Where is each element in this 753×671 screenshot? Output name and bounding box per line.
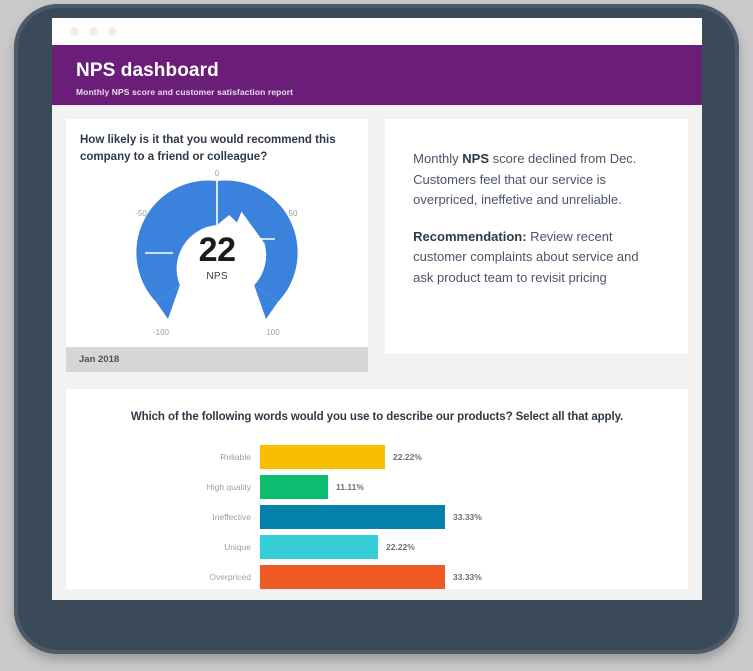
gauge-tick-label-neg100: -100 <box>153 328 170 337</box>
insight-paragraph-recommendation: Recommendation: Review recent customer c… <box>413 227 662 289</box>
gauge-arc-right-with-value-notch <box>217 181 298 303</box>
recommendation-label: Recommendation: <box>413 229 526 244</box>
browser-chrome <box>52 18 702 47</box>
bar-fill[interactable] <box>260 505 445 529</box>
bar-row: Overpriced33.33% <box>86 563 668 589</box>
app-header: NPS dashboard Monthly NPS score and cust… <box>52 47 702 105</box>
bar-value-label: 33.33% <box>453 572 482 582</box>
bar-fill[interactable] <box>260 445 385 469</box>
word-association-card: Which of the following words would you u… <box>66 389 688 589</box>
bar-row: Reliable22.22% <box>86 443 668 471</box>
bar-value-label: 22.22% <box>386 542 415 552</box>
page-title: NPS dashboard <box>76 61 678 82</box>
bar-track: 22.22% <box>260 445 668 469</box>
nps-gauge-card: How likely is it that you would recommen… <box>66 119 368 372</box>
bar-category-label: High quality <box>86 482 260 492</box>
gauge-tick-label-pos100: 100 <box>266 328 280 337</box>
bar-category-label: Unique <box>86 542 260 552</box>
device-frame: NPS dashboard Monthly NPS score and cust… <box>14 4 739 654</box>
bar-track: 33.33% <box>260 505 668 529</box>
gauge-question-text: How likely is it that you would recommen… <box>66 119 368 165</box>
bar-fill[interactable] <box>260 535 378 559</box>
bar-row: Unique22.22% <box>86 533 668 561</box>
bar-track: 33.33% <box>260 565 668 589</box>
window-minimize-dot-icon[interactable] <box>89 27 98 36</box>
window-close-dot-icon[interactable] <box>70 27 79 36</box>
bar-track: 22.22% <box>260 535 668 559</box>
bar-chart-title: Which of the following words would you u… <box>86 411 668 423</box>
bar-value-label: 22.22% <box>393 452 422 462</box>
bar-row: Ineffective33.33% <box>86 503 668 531</box>
dashboard-body: How likely is it that you would recommen… <box>52 105 702 589</box>
bar-row: High quality11.11% <box>86 473 668 501</box>
window-maximize-dot-icon[interactable] <box>108 27 117 36</box>
device-screen: NPS dashboard Monthly NPS score and cust… <box>52 18 702 600</box>
insight-summary-bold: NPS <box>462 151 489 166</box>
bar-fill[interactable] <box>260 475 328 499</box>
insight-paragraph-summary: Monthly NPS score declined from Dec. Cus… <box>413 149 662 211</box>
top-row: How likely is it that you would recommen… <box>66 119 688 372</box>
bar-category-label: Ineffective <box>86 512 260 522</box>
nps-gauge-chart: 0 -50 50 -100 100 22 NPS <box>66 165 368 347</box>
page-subtitle: Monthly NPS score and customer satisfact… <box>76 87 678 97</box>
bar-fill[interactable] <box>260 565 445 589</box>
gauge-period-footer: Jan 2018 <box>66 347 368 372</box>
bar-category-label: Reliable <box>86 452 260 462</box>
gauge-tick-label-pos50: 50 <box>289 209 298 218</box>
bar-track: 11.11% <box>260 475 668 499</box>
gauge-arc-left <box>136 181 217 303</box>
gauge-tick-label-0: 0 <box>215 169 220 178</box>
bar-category-label: Overpriced <box>86 572 260 582</box>
bar-value-label: 33.33% <box>453 512 482 522</box>
bar-value-label: 11.11% <box>336 482 364 492</box>
insight-card: Monthly NPS score declined from Dec. Cus… <box>385 119 688 354</box>
bar-chart-rows: Reliable22.22%High quality11.11%Ineffect… <box>86 443 668 589</box>
insight-summary-pre: Monthly <box>413 151 462 166</box>
gauge-tick-label-neg50: -50 <box>135 209 147 218</box>
gauge-svg: 0 -50 50 -100 100 <box>117 165 317 345</box>
